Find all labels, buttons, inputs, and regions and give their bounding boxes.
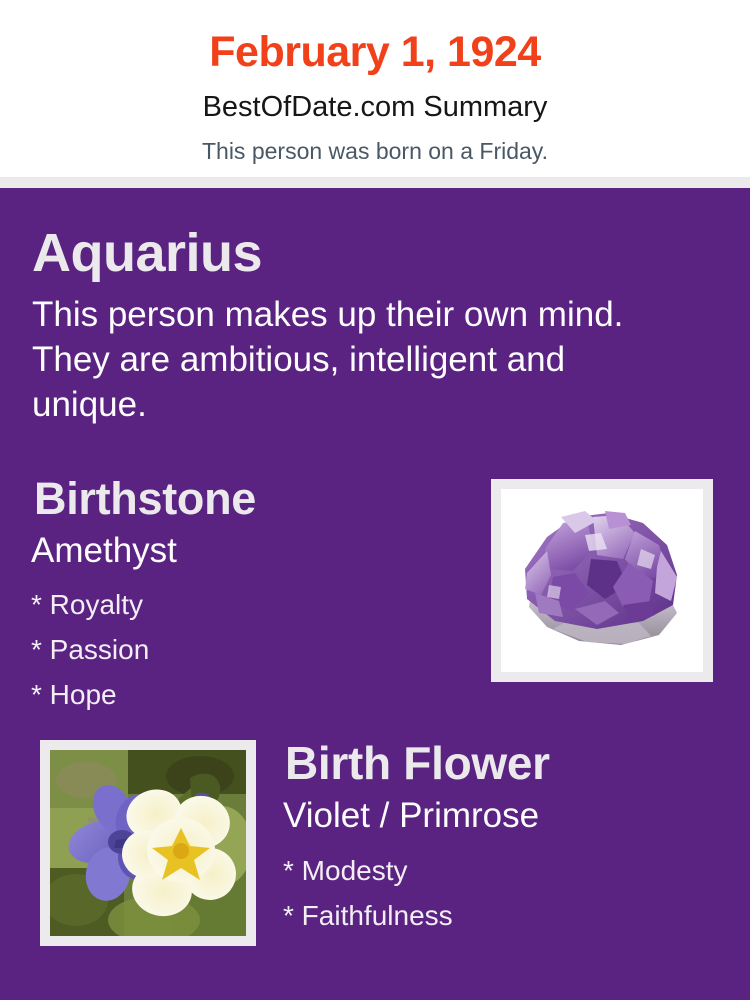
birthstone-trait-list: * Royalty * Passion * Hope — [31, 582, 149, 717]
details-panel: Aquarius This person makes up their own … — [0, 188, 750, 1000]
birthstone-image — [501, 489, 703, 672]
zodiac-sign-name: Aquarius — [32, 226, 262, 280]
birthstone-image-frame — [491, 479, 713, 682]
list-item: * Passion — [31, 627, 149, 672]
header: February 1, 1924 BestOfDate.com Summary … — [0, 0, 750, 177]
born-day-text: This person was born on a Friday. — [0, 122, 750, 163]
birth-flower-image — [50, 750, 246, 936]
birth-flower-image-frame — [40, 740, 256, 946]
zodiac-description: This person makes up their own mind. The… — [32, 293, 682, 427]
violet-primrose-flower-icon — [50, 750, 246, 936]
page-title: February 1, 1924 — [0, 0, 750, 74]
amethyst-crystal-icon — [501, 489, 703, 672]
summary-card: February 1, 1924 BestOfDate.com Summary … — [0, 0, 750, 1000]
birthstone-heading: Birthstone — [34, 476, 256, 521]
list-item: * Hope — [31, 672, 149, 717]
birth-flower-name: Violet / Primrose — [283, 798, 539, 833]
birth-flower-trait-list: * Modesty * Faithfulness — [283, 848, 453, 938]
list-item: * Faithfulness — [283, 893, 453, 938]
birth-flower-heading: Birth Flower — [285, 740, 550, 786]
list-item: * Royalty — [31, 582, 149, 627]
site-summary-label: BestOfDate.com Summary — [0, 74, 750, 122]
header-divider — [0, 177, 750, 188]
list-item: * Modesty — [283, 848, 453, 893]
birthstone-name: Amethyst — [31, 533, 177, 568]
